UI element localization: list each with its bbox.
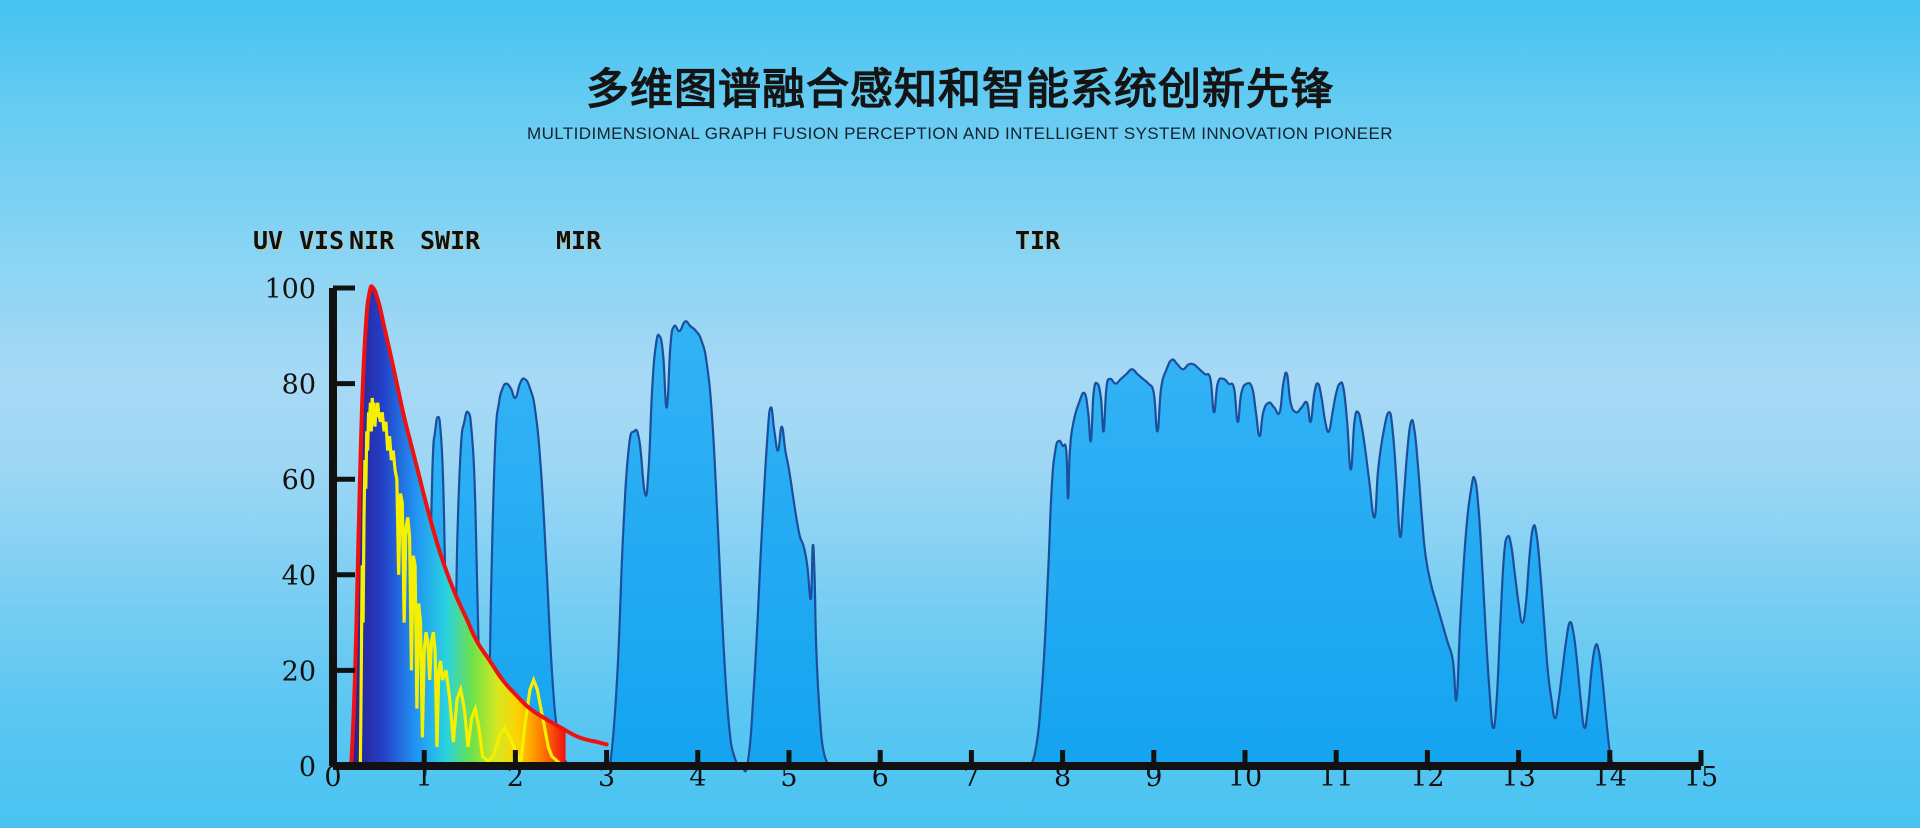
x-tick-label-6: 6 (872, 762, 889, 793)
x-tick-label-11: 11 (1319, 762, 1353, 793)
y-tick-label-20: 20 (282, 656, 316, 687)
y-tick-label-0: 0 (299, 752, 316, 783)
poster-canvas: 多维图谱融合感知和智能系统创新先锋 MULTIDIMENSIONAL GRAPH… (0, 0, 1920, 828)
x-tick-label-15: 15 (1684, 762, 1718, 793)
x-tick-label-4: 4 (689, 762, 706, 793)
x-tick-label-1: 1 (416, 762, 433, 793)
y-tick-label-40: 40 (282, 561, 316, 592)
x-tick-label-8: 8 (1054, 762, 1071, 793)
x-tick-label-2: 2 (507, 762, 524, 793)
y-tick-label-80: 80 (282, 370, 316, 401)
x-tick-label-0: 0 (324, 762, 341, 793)
transmission-window-2 (607, 321, 830, 771)
y-axis-tick-labels: 020406080100 (264, 274, 316, 783)
x-tick-label-9: 9 (1145, 762, 1162, 793)
x-tick-label-5: 5 (780, 762, 797, 793)
x-tick-label-3: 3 (598, 762, 615, 793)
x-tick-label-7: 7 (963, 762, 980, 793)
y-tick-label-60: 60 (282, 465, 316, 496)
x-tick-label-14: 14 (1593, 762, 1627, 793)
spectral-transmission-chart: 0123456789101112131415 020406080100 (0, 0, 1920, 828)
y-tick-label-100: 100 (264, 274, 316, 305)
x-tick-label-13: 13 (1501, 762, 1535, 793)
x-tick-label-12: 12 (1410, 762, 1444, 793)
transmission-window-3 (1026, 360, 1613, 766)
x-tick-label-10: 10 (1228, 762, 1262, 793)
